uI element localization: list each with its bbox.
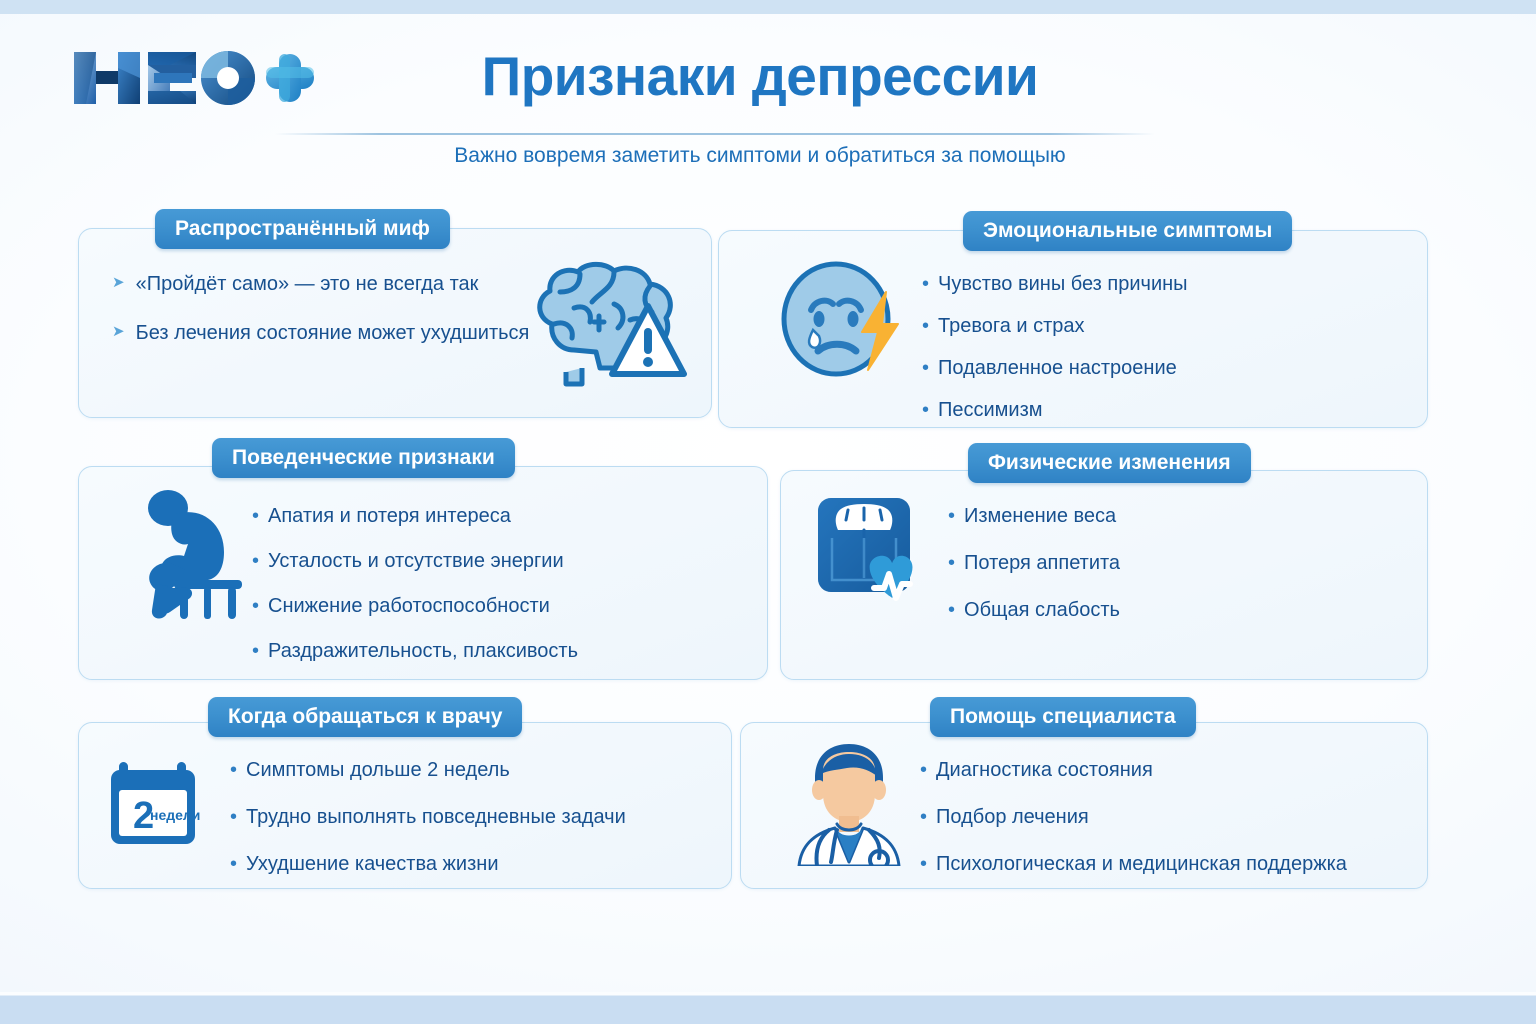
list-item-label: Без лечения состояние может ухудшиться (136, 321, 530, 346)
card-specialist-help-bullets: • Диагностика состояния • Подбор лечения… (920, 758, 1347, 894)
list-item-label: Апатия и потеря интереса (268, 504, 511, 529)
dot-bullet-icon: • (922, 314, 929, 339)
list-item: • Трудно выполнять повседневные задачи (230, 805, 626, 830)
list-item-label: Психологическая и медицинская поддержка (936, 852, 1347, 877)
slumped-person-icon (138, 484, 260, 620)
header: Признаки депрессии Важно вовремя заметит… (0, 14, 1536, 174)
list-item: • Психологическая и медицинская поддержк… (920, 852, 1347, 877)
list-item: • Снижение работоспособности (252, 594, 578, 619)
dot-bullet-icon: • (252, 594, 259, 619)
list-item-label: Изменение веса (964, 504, 1116, 529)
list-item: • Диагностика состояния (920, 758, 1347, 783)
card-myth-badge: Распространённый миф (155, 209, 450, 249)
arrow-bullet-icon: ➤ (112, 321, 125, 343)
list-item: ➤ «Пройдёт само» — это не всегда так (112, 272, 529, 297)
dot-bullet-icon: • (230, 805, 237, 830)
card-behavioral-badge: Поведенческие признаки (212, 438, 515, 478)
page-title: Признаки депрессии (360, 44, 1160, 108)
list-item-label: Ухудшение качества жизни (246, 852, 498, 877)
list-item-label: Снижение работоспособности (268, 594, 550, 619)
list-item: • Тревога и страх (922, 314, 1188, 339)
dot-bullet-icon: • (922, 272, 929, 297)
list-item: • Подбор лечения (920, 805, 1347, 830)
card-myth-bullets: ➤ «Пройдёт само» — это не всегда так ➤ Б… (112, 272, 529, 363)
page-subtitle: Важно вовремя заметить симптоми и обрати… (360, 144, 1160, 168)
card-behavioral-bullets: • Апатия и потеря интереса • Усталость и… (252, 504, 578, 681)
list-item-label: Раздражительность, плаксивость (268, 639, 578, 664)
card-when-to-see-doctor-bullets: • Симптомы дольше 2 недель • Трудно выпо… (230, 758, 626, 894)
neo-plus-logo (70, 42, 320, 112)
list-item-label: Общая слабость (964, 598, 1120, 623)
scale-heart-icon (814, 492, 938, 610)
card-physical-bullets: • Изменение веса • Потеря аппетита • Общ… (948, 504, 1120, 640)
dot-bullet-icon: • (948, 551, 955, 576)
list-item: • Пессимизм (922, 398, 1188, 423)
dot-bullet-icon: • (920, 852, 927, 877)
list-item: ➤ Без лечения состояние может ухудшиться (112, 321, 529, 346)
list-item: • Чувство вины без причины (922, 272, 1188, 297)
dot-bullet-icon: • (922, 398, 929, 423)
list-item: • Ухудшение качества жизни (230, 852, 626, 877)
list-item: • Раздражительность, плаксивость (252, 639, 578, 664)
list-item-label: Подавленное настроение (938, 356, 1177, 381)
list-item-label: Пессимизм (938, 398, 1043, 423)
list-item: • Подавленное настроение (922, 356, 1188, 381)
list-item: • Изменение веса (948, 504, 1120, 529)
dot-bullet-icon: • (920, 758, 927, 783)
list-item-label: Диагностика состояния (936, 758, 1153, 783)
arrow-bullet-icon: ➤ (112, 272, 125, 294)
list-item: • Апатия и потеря интереса (252, 504, 578, 529)
card-specialist-help-badge: Помощь специалиста (930, 697, 1196, 737)
header-divider (275, 133, 1155, 135)
list-item-label: Тревога и страх (938, 314, 1085, 339)
infographic-page: Признаки депрессии Важно вовремя заметит… (0, 0, 1536, 1024)
list-item-label: Симптомы дольше 2 недель (246, 758, 510, 783)
list-item: • Симптомы дольше 2 недель (230, 758, 626, 783)
calendar-icon: 2 недели (105, 758, 213, 850)
list-item-label: Трудно выполнять повседневные задачи (246, 805, 626, 830)
list-item: • Потеря аппетита (948, 551, 1120, 576)
doctor-icon (785, 742, 913, 866)
dot-bullet-icon: • (922, 356, 929, 381)
card-physical-badge: Физические изменения (968, 443, 1251, 483)
card-when-to-see-doctor-badge: Когда обращаться к врачу (208, 697, 522, 737)
list-item-label: Чувство вины без причины (938, 272, 1188, 297)
svg-text:недели: недели (150, 807, 200, 823)
sad-face-lightning-icon (778, 258, 908, 380)
dot-bullet-icon: • (252, 549, 259, 574)
dot-bullet-icon: • (252, 504, 259, 529)
list-item-label: Подбор лечения (936, 805, 1089, 830)
dot-bullet-icon: • (252, 639, 259, 664)
brain-warning-icon (530, 258, 695, 390)
dot-bullet-icon: • (920, 805, 927, 830)
list-item-label: «Пройдёт само» — это не всегда так (136, 272, 479, 297)
list-item: • Общая слабость (948, 598, 1120, 623)
dot-bullet-icon: • (230, 852, 237, 877)
card-emotional-bullets: • Чувство вины без причины • Тревога и с… (922, 272, 1188, 440)
dot-bullet-icon: • (948, 598, 955, 623)
dot-bullet-icon: • (230, 758, 237, 783)
list-item-label: Усталость и отсутствие энергии (268, 549, 564, 574)
dot-bullet-icon: • (948, 504, 955, 529)
card-emotional-badge: Эмоциональные симптомы (963, 211, 1292, 251)
list-item-label: Потеря аппетита (964, 551, 1120, 576)
list-item: • Усталость и отсутствие энергии (252, 549, 578, 574)
